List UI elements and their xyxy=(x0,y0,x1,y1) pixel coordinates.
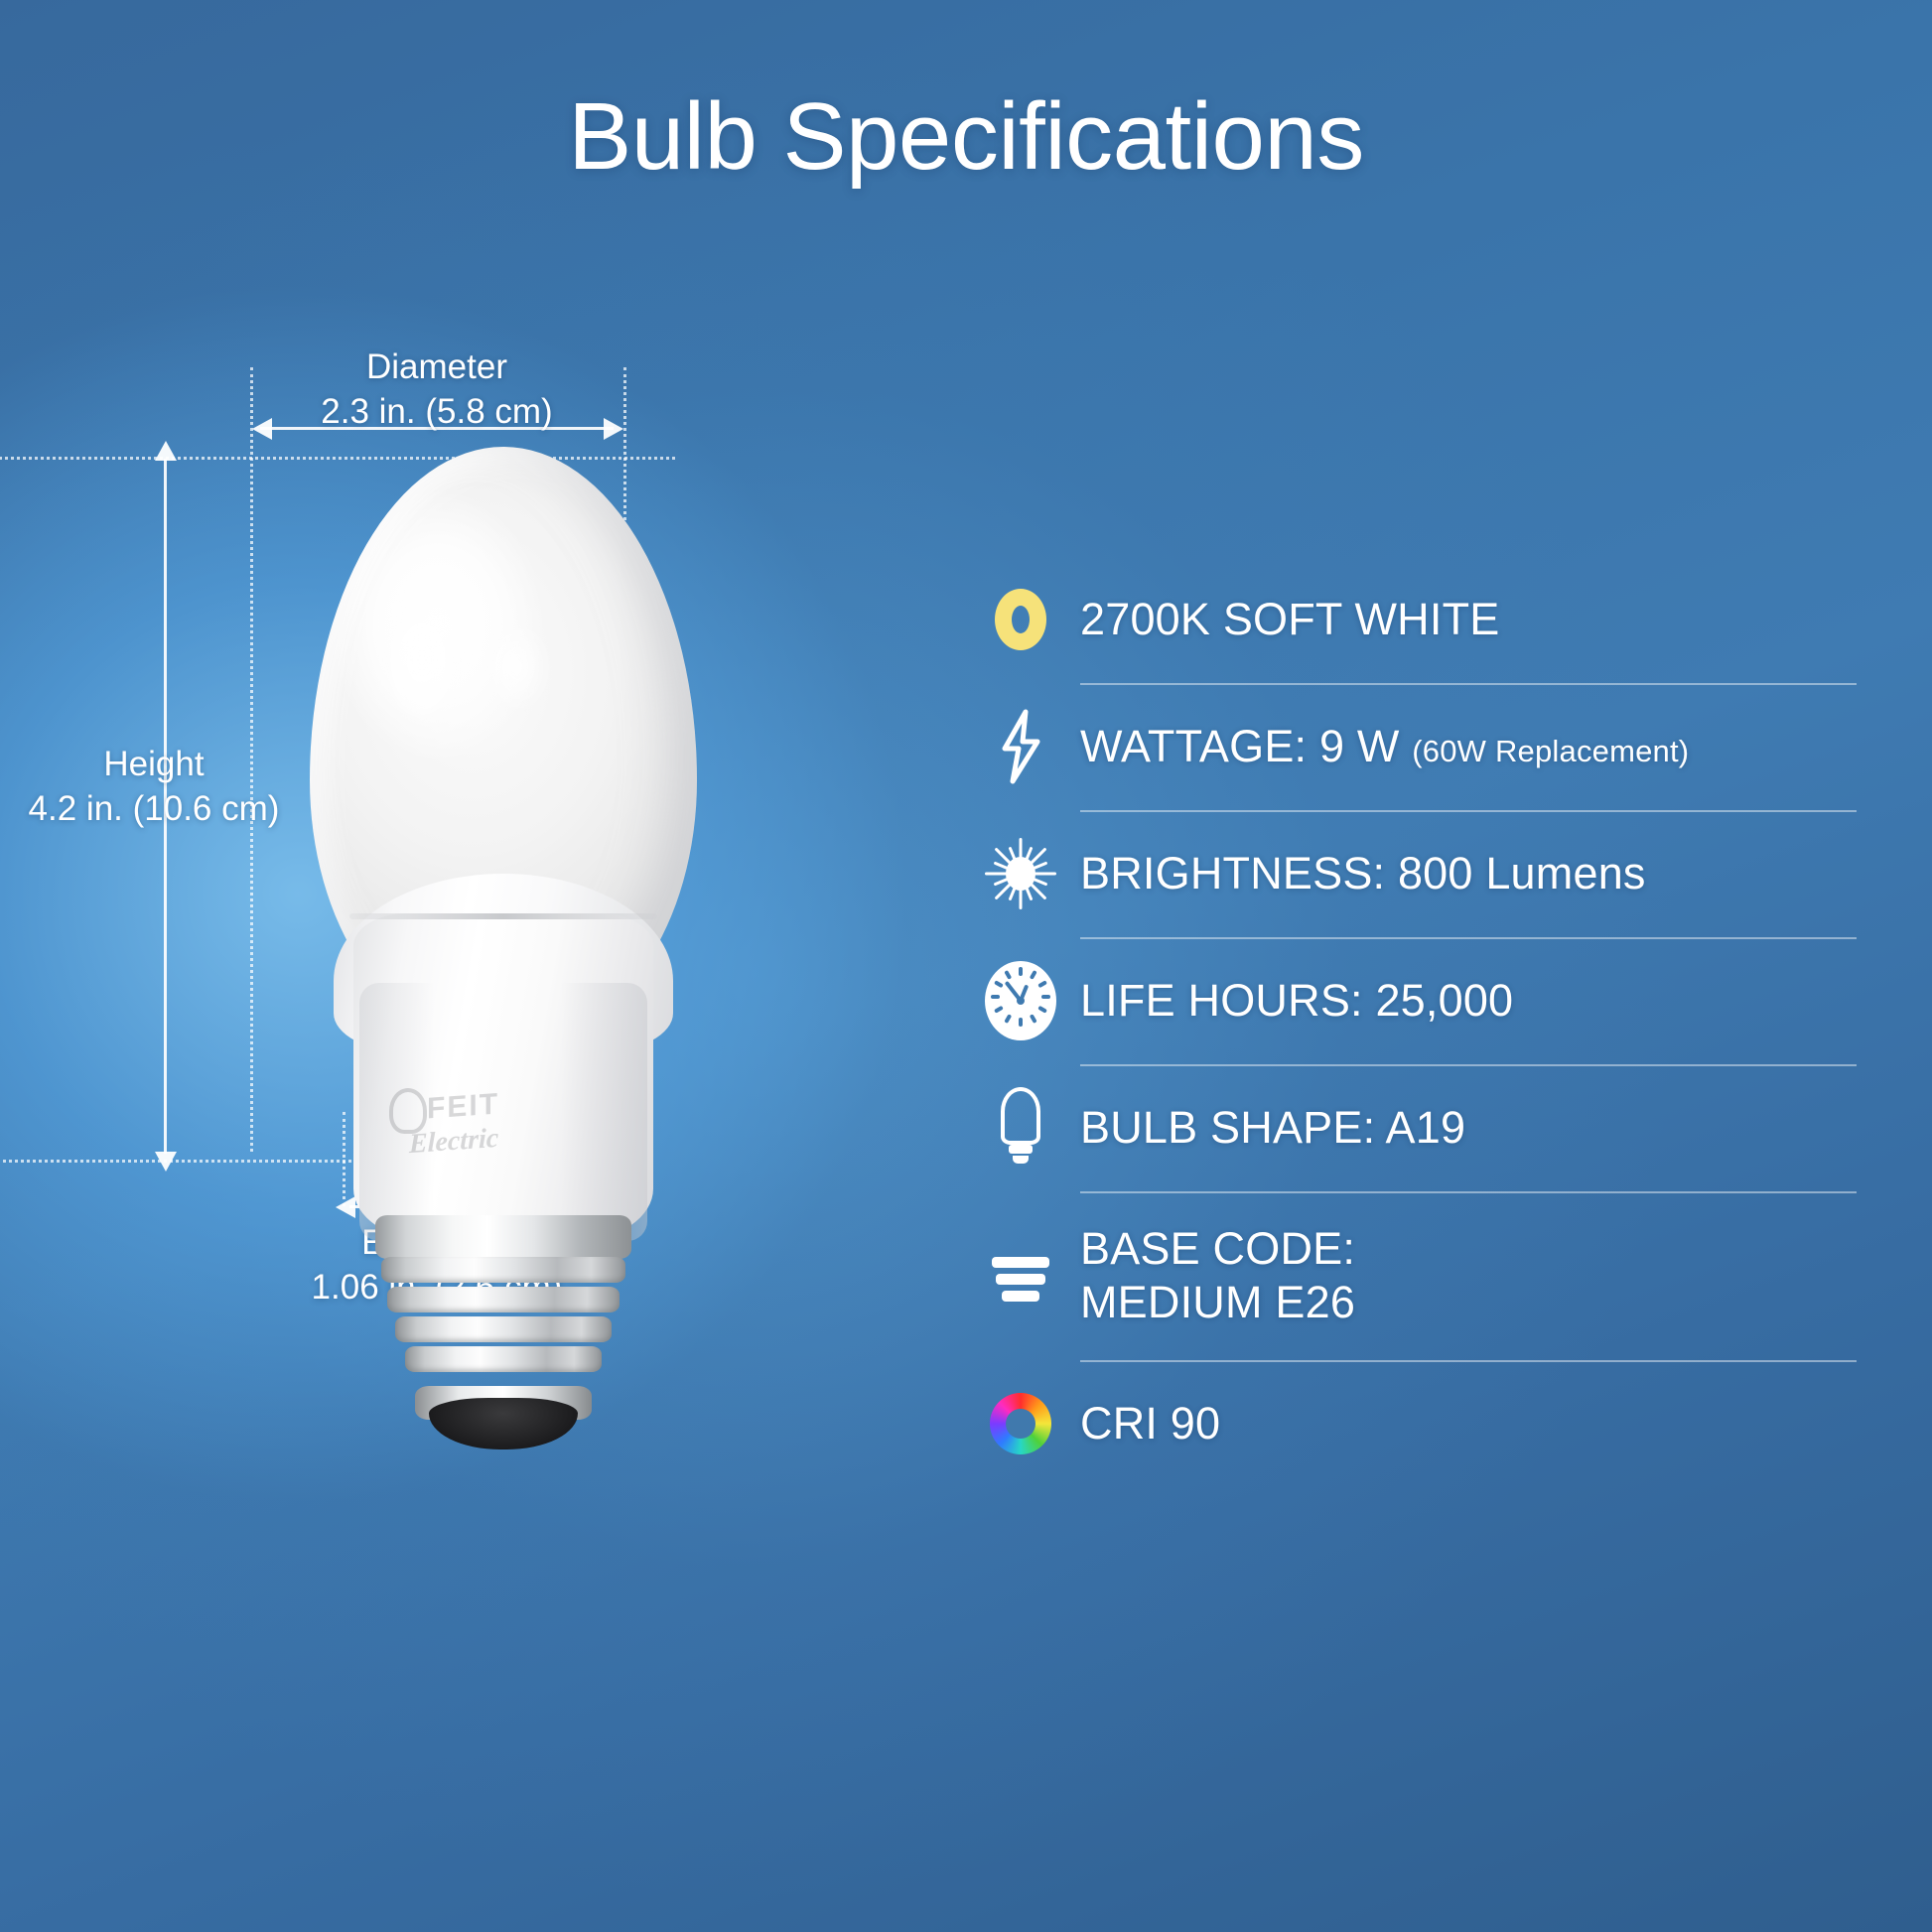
spec-divider xyxy=(1080,810,1857,812)
clock-tick xyxy=(1037,980,1047,988)
spec-label-wattage: WATTAGE: 9 W (60W Replacement) xyxy=(1080,720,1689,773)
spec-divider xyxy=(1080,1360,1857,1362)
clock-tick xyxy=(994,1006,1004,1014)
clock-tick xyxy=(1037,1006,1047,1014)
spec-label-bulb-shape: BULB SHAPE: A19 xyxy=(1080,1101,1465,1155)
spec-row-base-code: BASE CODE: MEDIUM E26 xyxy=(961,1191,1874,1360)
base-contact-tip xyxy=(429,1398,578,1449)
color-wheel-icon xyxy=(961,1378,1080,1469)
clock-tick xyxy=(994,980,1004,988)
bulb-seam-line xyxy=(349,913,657,919)
logo-bulb-icon xyxy=(389,1088,427,1134)
spec-row-color-temperature: 2700K SOFT WHITE xyxy=(961,556,1874,683)
clock-tick xyxy=(991,995,1000,999)
bulb-illustration: FEIT Electric xyxy=(310,447,697,1469)
page-title: Bulb Specifications xyxy=(0,87,1932,188)
base-code-icon xyxy=(961,1230,1080,1321)
logo-brand-sub: Electric xyxy=(409,1123,498,1161)
spec-row-cri: CRI 90 xyxy=(961,1360,1874,1487)
spec-divider xyxy=(1080,1191,1857,1193)
base-thread xyxy=(387,1287,620,1312)
clock-icon xyxy=(961,955,1080,1046)
clock-tick xyxy=(1019,967,1023,976)
diameter-label-title: Diameter xyxy=(366,347,507,386)
clock-tick xyxy=(1030,1014,1037,1024)
diameter-label-value: 2.3 in. (5.8 cm) xyxy=(321,392,552,431)
sun-brightness-icon xyxy=(961,828,1080,919)
wattage-replacement-note: (60W Replacement) xyxy=(1412,734,1689,768)
spec-divider xyxy=(1080,937,1857,939)
bulb-highlight-primary xyxy=(381,596,463,725)
wattage-value: WATTAGE: 9 W xyxy=(1080,721,1400,771)
spec-label-cri: CRI 90 xyxy=(1080,1397,1220,1450)
diameter-label: Diameter 2.3 in. (5.8 cm) xyxy=(199,345,675,435)
height-arrow-down-icon xyxy=(155,1152,177,1172)
feit-electric-logo: FEIT Electric xyxy=(381,1082,570,1172)
spec-label-life-hours: LIFE HOURS: 25,000 xyxy=(1080,974,1513,1028)
base-thread xyxy=(405,1346,602,1372)
height-arrow-up-icon xyxy=(155,441,177,461)
logo-brand-name: FEIT xyxy=(427,1087,499,1126)
base-collar xyxy=(375,1215,631,1259)
lightning-bolt-icon xyxy=(961,701,1080,792)
color-temperature-ring-icon xyxy=(961,574,1080,665)
spec-row-wattage: WATTAGE: 9 W (60W Replacement) xyxy=(961,683,1874,810)
spec-divider xyxy=(1080,1064,1857,1066)
bulb-shape-icon xyxy=(961,1082,1080,1173)
spec-row-life-hours: LIFE HOURS: 25,000 xyxy=(961,937,1874,1064)
clock-tick xyxy=(1030,970,1037,980)
spec-label-color-temperature: 2700K SOFT WHITE xyxy=(1080,593,1499,646)
bulb-dimension-panel: Diameter 2.3 in. (5.8 cm) Height 4.2 in.… xyxy=(0,328,894,1618)
clock-tick xyxy=(1004,970,1012,980)
height-label-value: 4.2 in. (10.6 cm) xyxy=(29,789,280,828)
base-thread xyxy=(395,1316,612,1342)
spec-label-base-code: BASE CODE: MEDIUM E26 xyxy=(1080,1222,1355,1329)
clock-tick xyxy=(1004,1014,1012,1024)
bulb-screw-base xyxy=(381,1231,625,1430)
spec-divider xyxy=(1080,683,1857,685)
spec-row-bulb-shape: BULB SHAPE: A19 xyxy=(961,1064,1874,1191)
height-label-title: Height xyxy=(103,745,204,783)
clock-tick xyxy=(1019,1018,1023,1027)
infographic-canvas: Bulb Specifications Diameter 2.3 in. (5.… xyxy=(0,0,1932,1932)
clock-tick xyxy=(1041,995,1050,999)
spec-row-brightness: BRIGHTNESS: 800 Lumens xyxy=(961,810,1874,937)
specifications-list: 2700K SOFT WHITE WATTAGE: 9 W (60W Repla… xyxy=(961,556,1874,1487)
base-thread xyxy=(381,1257,625,1283)
base-code-title: BASE CODE: xyxy=(1080,1223,1355,1274)
base-code-value: MEDIUM E26 xyxy=(1080,1277,1355,1327)
spec-label-brightness: BRIGHTNESS: 800 Lumens xyxy=(1080,847,1646,900)
bulb-highlight-secondary xyxy=(486,623,548,711)
